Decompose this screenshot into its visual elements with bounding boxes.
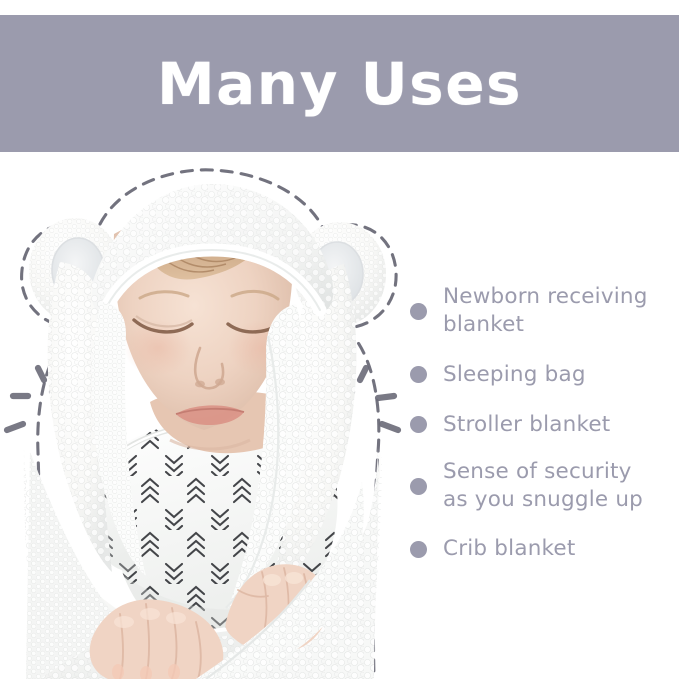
list-item-label: Sleeping bag [443, 361, 586, 389]
baby-blanket-illustration [0, 152, 405, 679]
list-item: Sleeping bag [410, 358, 679, 392]
bullet-icon [410, 303, 427, 320]
bullet-icon [410, 541, 427, 558]
uses-list: Newborn receiving blanket Sleeping bag S… [410, 283, 679, 583]
list-item: Crib blanket [410, 533, 679, 567]
bullet-icon [410, 416, 427, 433]
product-feature-card: Many Uses [0, 0, 679, 679]
list-item-label: Newborn receiving blanket [443, 283, 648, 340]
list-item: Sense of security as you snuggle up [410, 458, 679, 515]
page-title: Many Uses [157, 55, 522, 113]
list-item-label: Crib blanket [443, 535, 575, 563]
list-item-label: Sense of security as you snuggle up [443, 458, 643, 515]
list-item: Newborn receiving blanket [410, 283, 679, 340]
product-photo [0, 152, 405, 679]
bullet-icon [410, 366, 427, 383]
header-banner: Many Uses [0, 15, 679, 152]
list-item-label: Stroller blanket [443, 411, 610, 439]
list-item: Stroller blanket [410, 408, 679, 442]
bullet-icon [410, 478, 427, 495]
